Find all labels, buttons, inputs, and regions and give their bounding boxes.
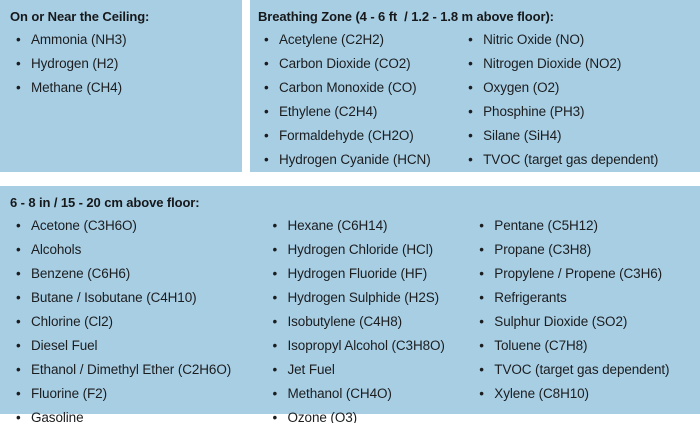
list-item: •Diesel Fuel: [10, 334, 267, 358]
bullet-icon: •: [479, 358, 484, 382]
bullet-icon: •: [273, 214, 278, 238]
list-item: •TVOC (target gas dependent): [462, 148, 696, 172]
gas-name: Toluene (C7H8): [494, 338, 587, 353]
list-item: •Jet Fuel: [267, 358, 474, 382]
gas-name: Oxygen (O2): [483, 80, 559, 95]
gas-name: Ammonia (NH3): [31, 32, 126, 47]
list-item: •Ethylene (C2H4): [258, 100, 462, 124]
gas-name: Hydrogen Chloride (HCl): [288, 242, 434, 257]
bullet-icon: •: [16, 406, 21, 423]
gas-name: Hydrogen Cyanide (HCN): [279, 152, 431, 167]
list-item: •Chlorine (Cl2): [10, 310, 267, 334]
gas-name: Benzene (C6H6): [31, 266, 130, 281]
gas-name: Pentane (C5H12): [494, 218, 598, 233]
bullet-icon: •: [468, 28, 473, 52]
bullet-icon: •: [273, 286, 278, 310]
list-item: •Propylene / Propene (C3H6): [473, 262, 696, 286]
gas-name: Hexane (C6H14): [288, 218, 388, 233]
bullet-icon: •: [479, 310, 484, 334]
bullet-icon: •: [264, 52, 269, 76]
gas-name: TVOC (target gas dependent): [494, 362, 669, 377]
list-item: •Acetone (C3H6O): [10, 214, 267, 238]
list-item: •Nitrogen Dioxide (NO2): [462, 52, 696, 76]
gas-name: Methanol (CH4O): [288, 386, 392, 401]
list-item: •Methanol (CH4O): [267, 382, 474, 406]
gas-name: Isobutylene (C4H8): [288, 314, 403, 329]
gas-list-breathing-col-1: •Acetylene (C2H2) •Carbon Dioxide (CO2) …: [258, 28, 462, 172]
bullet-icon: •: [468, 148, 473, 172]
panel-above-floor-columns: •Acetone (C3H6O) •Alcohols •Benzene (C6H…: [10, 214, 696, 423]
gas-name: Gasoline: [31, 410, 83, 423]
list-item: •Isopropyl Alcohol (C3H8O): [267, 334, 474, 358]
list-item: •Hexane (C6H14): [267, 214, 474, 238]
bullet-icon: •: [16, 382, 21, 406]
gas-name: Nitric Oxide (NO): [483, 32, 584, 47]
bullet-icon: •: [264, 148, 269, 172]
list-item: •Isobutylene (C4H8): [267, 310, 474, 334]
gas-name: Methane (CH4): [31, 80, 122, 95]
bullet-icon: •: [273, 262, 278, 286]
bullet-icon: •: [479, 238, 484, 262]
gas-name: Hydrogen (H2): [31, 56, 118, 71]
gas-name: Carbon Dioxide (CO2): [279, 56, 411, 71]
bullet-icon: •: [468, 100, 473, 124]
bullet-icon: •: [16, 52, 21, 76]
bullet-icon: •: [479, 334, 484, 358]
panel-above-floor-title: 6 - 8 in / 15 - 20 cm above floor:: [10, 194, 696, 211]
list-item: •Butane / Isobutane (C4H10): [10, 286, 267, 310]
gas-name: TVOC (target gas dependent): [483, 152, 658, 167]
list-item: •Ammonia (NH3): [10, 28, 126, 52]
gas-list-floor-col-3: •Pentane (C5H12) •Propane (C3H8) •Propyl…: [473, 214, 696, 406]
gas-name: Carbon Monoxide (CO): [279, 80, 417, 95]
bullet-icon: •: [264, 124, 269, 148]
bullet-icon: •: [468, 76, 473, 100]
bullet-icon: •: [264, 28, 269, 52]
bullet-icon: •: [16, 214, 21, 238]
bullet-icon: •: [273, 358, 278, 382]
panel-ceiling: On or Near the Ceiling: •Ammonia (NH3) •…: [0, 0, 242, 172]
list-item: •Pentane (C5H12): [473, 214, 696, 238]
bullet-icon: •: [16, 334, 21, 358]
gas-name: Nitrogen Dioxide (NO2): [483, 56, 621, 71]
list-item: •Phosphine (PH3): [462, 100, 696, 124]
list-item: •Toluene (C7H8): [473, 334, 696, 358]
gas-name: Ozone (O3): [288, 410, 358, 423]
panel-breathing-zone: Breathing Zone (4 - 6 ft / 1.2 - 1.8 m a…: [250, 0, 700, 172]
bullet-icon: •: [479, 286, 484, 310]
list-item: •Ethanol / Dimethyl Ether (C2H6O): [10, 358, 267, 382]
list-item: •Silane (SiH4): [462, 124, 696, 148]
list-item: •Sulphur Dioxide (SO2): [473, 310, 696, 334]
gas-name: Hydrogen Sulphide (H2S): [288, 290, 440, 305]
gas-name: Hydrogen Fluoride (HF): [288, 266, 428, 281]
gas-name: Silane (SiH4): [483, 128, 561, 143]
list-item: •Fluorine (F2): [10, 382, 267, 406]
list-item: •Hydrogen Chloride (HCl): [267, 238, 474, 262]
list-item: •Hydrogen (H2): [10, 52, 126, 76]
list-item: •Hydrogen Fluoride (HF): [267, 262, 474, 286]
gas-name: Jet Fuel: [288, 362, 335, 377]
list-item: •Hydrogen Sulphide (H2S): [267, 286, 474, 310]
panel-breathing-zone-title: Breathing Zone (4 - 6 ft / 1.2 - 1.8 m a…: [258, 8, 696, 25]
gas-name: Alcohols: [31, 242, 81, 257]
gas-name: Refrigerants: [494, 290, 566, 305]
gas-name: Fluorine (F2): [31, 386, 107, 401]
gas-list-ceiling-col-1: •Ammonia (NH3) •Hydrogen (H2) •Methane (…: [10, 28, 126, 100]
bullet-icon: •: [16, 28, 21, 52]
bullet-icon: •: [16, 358, 21, 382]
gas-list-floor-col-2: •Hexane (C6H14) •Hydrogen Chloride (HCl)…: [267, 214, 474, 423]
list-item: •Ozone (O3): [267, 406, 474, 423]
bullet-icon: •: [479, 214, 484, 238]
panel-ceiling-title: On or Near the Ceiling:: [10, 8, 234, 25]
gas-name: Ethanol / Dimethyl Ether (C2H6O): [31, 362, 231, 377]
gas-name: Propylene / Propene (C3H6): [494, 266, 662, 281]
list-item: •Carbon Monoxide (CO): [258, 76, 462, 100]
list-item: •Xylene (C8H10): [473, 382, 696, 406]
gas-name: Acetylene (C2H2): [279, 32, 384, 47]
list-item: •Propane (C3H8): [473, 238, 696, 262]
gas-placement-infographic: On or Near the Ceiling: •Ammonia (NH3) •…: [0, 0, 700, 423]
bullet-icon: •: [273, 310, 278, 334]
gas-name: Phosphine (PH3): [483, 104, 584, 119]
bullet-icon: •: [16, 76, 21, 100]
list-item: •Oxygen (O2): [462, 76, 696, 100]
bullet-icon: •: [264, 100, 269, 124]
gas-name: Sulphur Dioxide (SO2): [494, 314, 627, 329]
gas-list-floor-col-1: •Acetone (C3H6O) •Alcohols •Benzene (C6H…: [10, 214, 267, 423]
list-item: •Hydrogen Cyanide (HCN): [258, 148, 462, 172]
gas-name: Formaldehyde (CH2O): [279, 128, 414, 143]
bullet-icon: •: [16, 286, 21, 310]
bullet-icon: •: [273, 406, 278, 423]
list-item: •Acetylene (C2H2): [258, 28, 462, 52]
bullet-icon: •: [468, 124, 473, 148]
list-item: •Gasoline: [10, 406, 267, 423]
panel-above-floor: 6 - 8 in / 15 - 20 cm above floor: •Acet…: [0, 186, 700, 414]
list-item: •Benzene (C6H6): [10, 262, 267, 286]
bullet-icon: •: [273, 334, 278, 358]
gas-name: Butane / Isobutane (C4H10): [31, 290, 197, 305]
panel-ceiling-columns: •Ammonia (NH3) •Hydrogen (H2) •Methane (…: [10, 28, 234, 100]
bullet-icon: •: [273, 382, 278, 406]
gas-name: Xylene (C8H10): [494, 386, 589, 401]
list-item: •Alcohols: [10, 238, 267, 262]
bullet-icon: •: [479, 382, 484, 406]
bullet-icon: •: [16, 262, 21, 286]
list-item: •Formaldehyde (CH2O): [258, 124, 462, 148]
bullet-icon: •: [273, 238, 278, 262]
list-item: •Nitric Oxide (NO): [462, 28, 696, 52]
gas-name: Acetone (C3H6O): [31, 218, 137, 233]
bullet-icon: •: [479, 262, 484, 286]
bullet-icon: •: [264, 76, 269, 100]
list-item: •Carbon Dioxide (CO2): [258, 52, 462, 76]
bullet-icon: •: [16, 238, 21, 262]
list-item: •Methane (CH4): [10, 76, 126, 100]
gas-name: Diesel Fuel: [31, 338, 97, 353]
list-item: •Refrigerants: [473, 286, 696, 310]
bullet-icon: •: [16, 310, 21, 334]
gas-list-breathing-col-2: •Nitric Oxide (NO) •Nitrogen Dioxide (NO…: [462, 28, 696, 172]
panel-breathing-zone-columns: •Acetylene (C2H2) •Carbon Dioxide (CO2) …: [258, 28, 696, 172]
gas-name: Propane (C3H8): [494, 242, 591, 257]
gas-name: Chlorine (Cl2): [31, 314, 113, 329]
list-item: •TVOC (target gas dependent): [473, 358, 696, 382]
gas-name: Isopropyl Alcohol (C3H8O): [288, 338, 445, 353]
gas-name: Ethylene (C2H4): [279, 104, 377, 119]
bullet-icon: •: [468, 52, 473, 76]
